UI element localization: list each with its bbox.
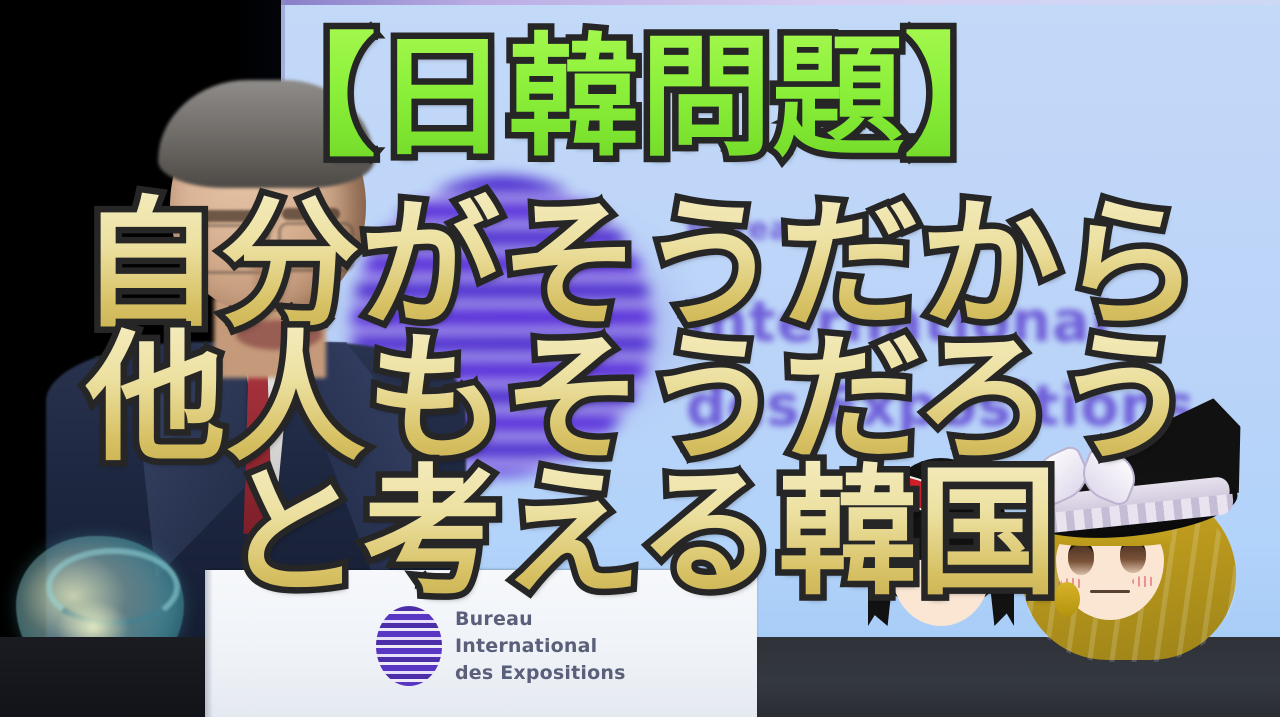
overlay-line-3: と考える韓国 と考える韓国 <box>222 464 1058 604</box>
podium-edge-shadow <box>205 570 213 717</box>
overlay-line-2: 他人もそうだろう 他人もそうだろう <box>86 330 1195 470</box>
podium-org-line-2: International <box>455 633 626 660</box>
marisa-blush-right <box>1132 576 1156 587</box>
overlay-title-fill: 【日韓問題】 <box>244 21 1036 175</box>
overlay-title: 【日韓問題】 【日韓問題】 <box>244 32 1036 164</box>
screen-top-edge <box>281 0 1280 5</box>
stage-floor-band-left <box>0 637 205 717</box>
podium-org-line-3: des Expositions <box>455 660 626 687</box>
bie-logo-icon <box>376 606 442 686</box>
overlay-line-1: 自分がそうだから 自分がそうだから <box>80 196 1200 336</box>
overlay-line-3-fill: と考える韓国 <box>222 452 1058 615</box>
marisa-mouth <box>1090 590 1130 593</box>
thumbnail-canvas: Bureau International des Expositions <box>0 0 1280 717</box>
podium-organization-text: Bureau International des Expositions <box>455 606 626 687</box>
